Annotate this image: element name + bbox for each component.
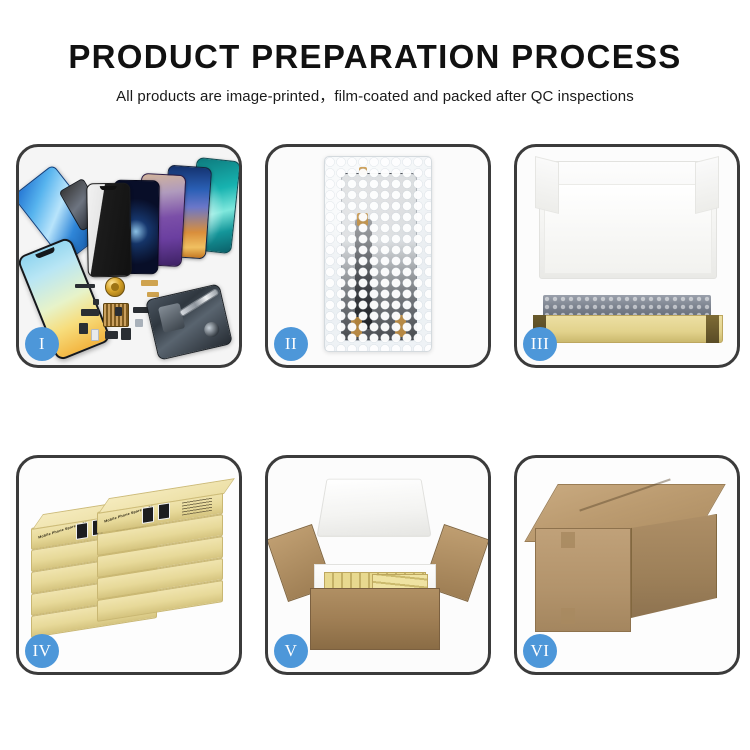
gold-coil-part-icon: [105, 277, 125, 297]
carton-tape-tab: [561, 608, 575, 624]
phone-notch-icon: [35, 247, 55, 259]
white-foam-sheet: [539, 161, 717, 279]
styrofoam-lid: [316, 479, 431, 537]
spare-part-bit: [147, 292, 159, 297]
process-step-1[interactable]: I: [16, 144, 242, 368]
carton-side-face: [631, 514, 717, 618]
process-step-5[interactable]: V: [265, 455, 491, 675]
step-badge: V: [274, 634, 308, 668]
process-step-3[interactable]: III: [514, 144, 740, 368]
spare-part-bit: [79, 323, 88, 334]
foam-flap-right: [695, 156, 719, 214]
box-label-phone-image: [76, 522, 88, 540]
carton-front-face: [535, 528, 631, 632]
step-badge: III: [523, 327, 557, 361]
spare-part-bit: [75, 284, 95, 288]
step-badge: I: [25, 327, 59, 361]
process-step-grid: I II: [16, 144, 740, 675]
page-title: PRODUCT PREPARATION PROCESS: [0, 38, 750, 76]
page-subtitle: All products are image-printed，film-coat…: [0, 85, 750, 106]
bubble-texture: [325, 157, 431, 351]
kraft-box-front-wall: [533, 315, 723, 343]
spare-part-bit: [105, 331, 118, 339]
step-badge: IV: [25, 634, 59, 668]
kraft-box-stack: Mobile Phone Spare Parts Mobile Phone Sp…: [27, 478, 237, 656]
spare-part-bit: [135, 319, 143, 327]
spare-part-bit: [141, 280, 158, 286]
phone-notch-icon: [100, 186, 117, 190]
step-badge: VI: [523, 634, 557, 668]
process-step-4[interactable]: Mobile Phone Spare Parts Mobile Phone Sp…: [16, 455, 242, 675]
process-step-6[interactable]: VI: [514, 455, 740, 675]
carton-tape-tab: [561, 532, 575, 548]
spare-part-bit: [91, 329, 99, 341]
spare-part-bit: [121, 328, 131, 340]
box-label-phone-image: [142, 506, 154, 524]
phone-screen-front-glass: [86, 183, 132, 278]
product-preparation-infographic: PRODUCT PREPARATION PROCESS All products…: [0, 0, 750, 750]
spare-part-bit: [115, 307, 122, 316]
spare-part-bit: [93, 299, 99, 305]
step-badge: II: [274, 327, 308, 361]
bubble-wrap-bag: [324, 156, 432, 352]
spare-part-bit: [81, 309, 99, 316]
box-label-phone-image: [158, 502, 170, 520]
header: PRODUCT PREPARATION PROCESS All products…: [0, 38, 750, 106]
foam-flap-left: [535, 156, 559, 214]
process-step-2[interactable]: II: [265, 144, 491, 368]
kraft-box-side-right: [706, 315, 719, 343]
carton-body: [310, 588, 440, 650]
